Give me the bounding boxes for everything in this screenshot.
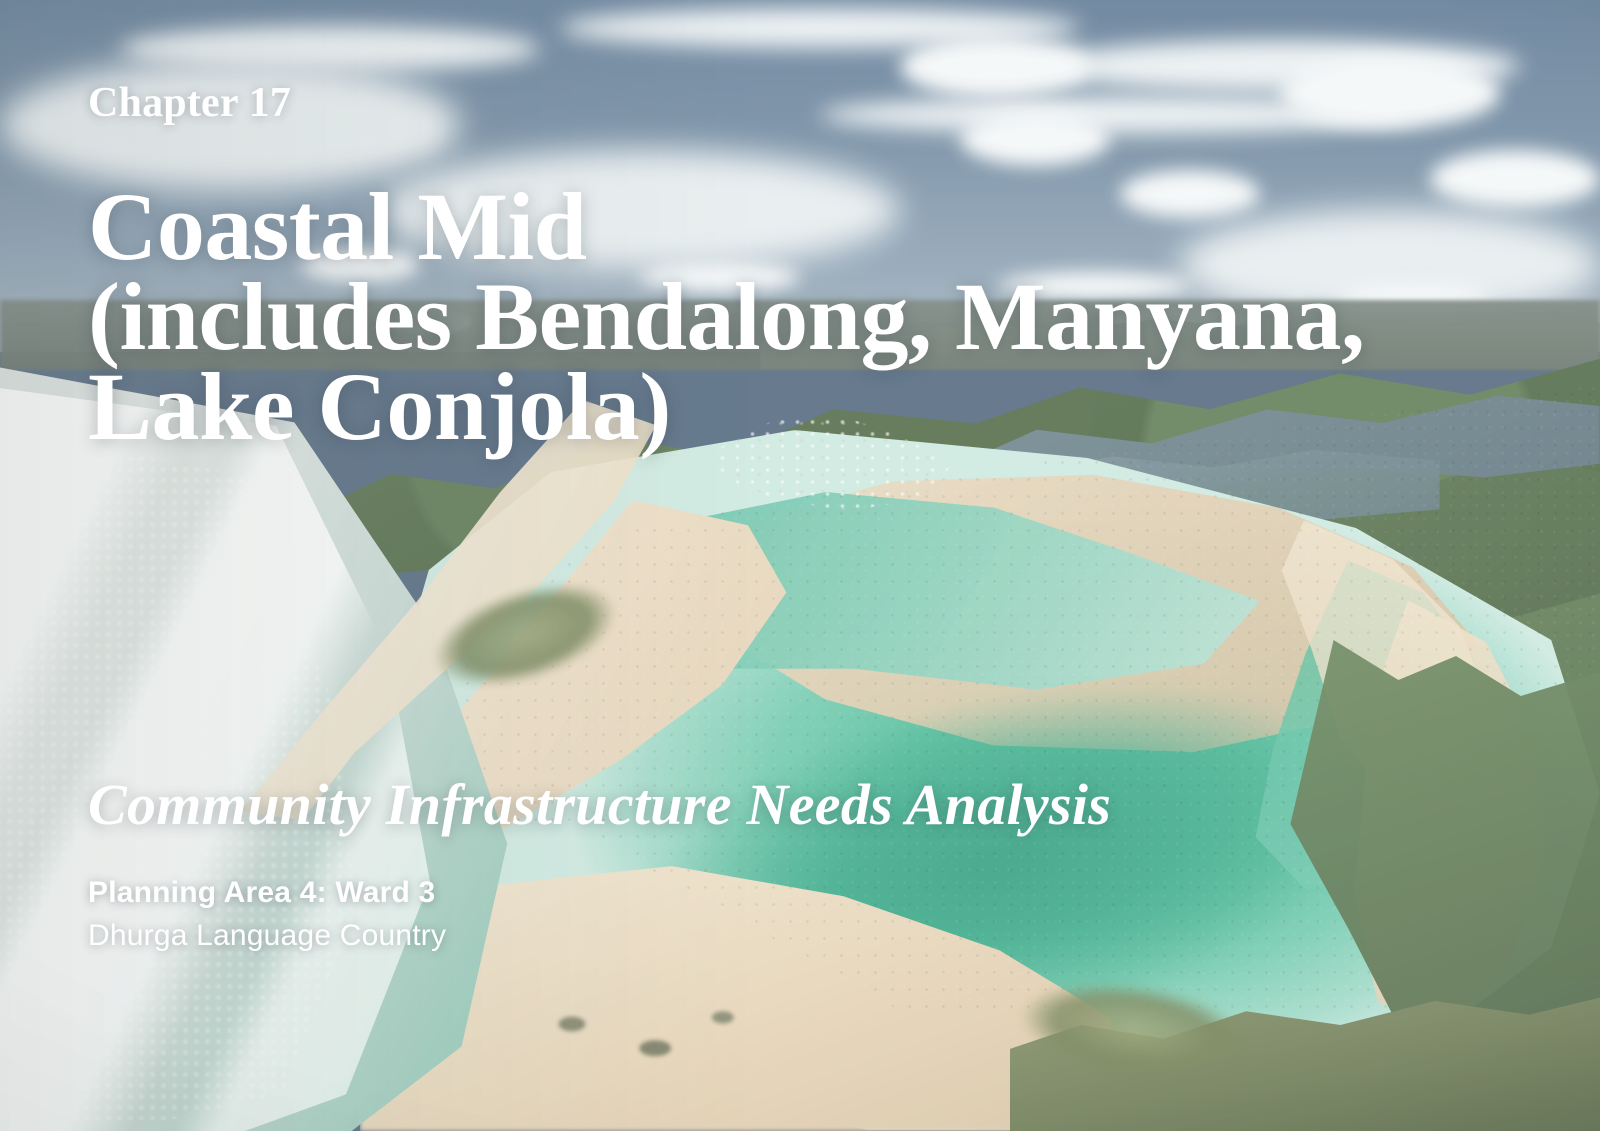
page-title-line-2: (includes Bendalong, Manyana, [88, 272, 1488, 362]
page-title-line-1: Coastal Mid [88, 182, 1488, 272]
planning-area-label: Planning Area 4: Ward 3 [88, 875, 435, 911]
page-title: Coastal Mid (includes Bendalong, Manyana… [88, 182, 1488, 453]
language-country-label: Dhurga Language Country [88, 918, 446, 954]
cover-text-content: Chapter 17 Coastal Mid (includes Bendalo… [0, 0, 1600, 1131]
chapter-label: Chapter 17 [88, 80, 291, 126]
page-title-line-3: Lake Conjola) [88, 362, 1488, 452]
document-subtitle: Community Infrastructure Needs Analysis [88, 775, 1111, 836]
chapter-cover-page: Chapter 17 Coastal Mid (includes Bendalo… [0, 0, 1600, 1131]
